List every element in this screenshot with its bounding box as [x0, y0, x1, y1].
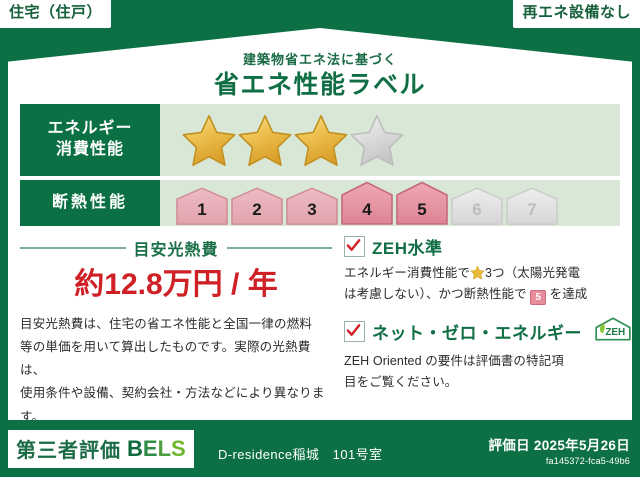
insulation-performance-label: 断熱性能	[20, 180, 160, 226]
bels-energy-label: 住宅（住戸） 再エネ設備なし 建築物省エネ法に基づく 省エネ性能ラベル エネルギ…	[0, 0, 640, 477]
cost-note-line2: 等の単価を用いて算出したものです。実際の光熱費は、	[20, 336, 332, 382]
energy-performance-label: エネルギー 消費性能	[20, 104, 160, 176]
zeh-body-mid: 3つ（太陽光発電	[485, 266, 580, 280]
net-zero-body: ZEH Oriented の要件は評価書の特記項 目をご覧ください。	[344, 351, 640, 394]
insulation-level-1: 1	[176, 187, 228, 225]
bels-letter-l: L	[158, 436, 171, 461]
insulation-performance-value: 1234567	[160, 180, 620, 226]
insulation-level-number: 3	[307, 201, 316, 225]
zeh-level-head: ZEH水準	[344, 234, 640, 259]
checkbox-checked-icon	[344, 236, 365, 257]
cost-note-line1: 目安光熱費は、住宅の省エネ性能と全国一律の燃料	[20, 313, 332, 336]
insulation-level-3: 3	[286, 187, 338, 225]
insulation-level-number: 1	[197, 201, 206, 225]
bels-logo: 第三者評価 BELS	[8, 430, 194, 468]
insulation-level-number: 4	[362, 201, 371, 225]
insulation-level-number: 5	[417, 201, 426, 225]
insulation-level-6: 6	[451, 187, 503, 225]
evaluation-date: 評価日 2025年5月26日	[488, 434, 630, 454]
evaluation-info: 評価日 2025年5月26日 fa145372-fca5-49b6	[488, 434, 630, 466]
main-card: エネルギー 消費性能 断熱性能 1234567	[8, 100, 632, 420]
roof-text-block: 建築物省エネ法に基づく 省エネ性能ラベル	[8, 52, 632, 99]
cost-note: 目安光熱費は、住宅の省エネ性能と全国一律の燃料 等の単価を用いて算出したものです…	[20, 313, 332, 429]
bels-jp-text: 第三者評価	[16, 434, 121, 463]
checkbox-checked-icon-2	[344, 321, 365, 342]
insulation-level-7: 7	[506, 187, 558, 225]
cost-heading-rule-right	[227, 247, 333, 249]
property-name: D-residence稲城 101号室	[218, 444, 382, 463]
label-title: 省エネ性能ラベル	[8, 71, 632, 100]
star-rating	[182, 113, 404, 167]
cost-column: 目安光熱費 約12.8万円 / 年 目安光熱費は、住宅の省エネ性能と全国一律の燃…	[20, 232, 338, 429]
svg-text:ZEH: ZEH	[605, 327, 625, 338]
bels-letter-e: E	[143, 436, 158, 461]
zeh-level-title: ZEH水準	[372, 234, 443, 259]
bels-wordmark: BELS	[127, 436, 186, 462]
net-zero-head: ネット・ゼロ・エネルギー ZEH ZEH Oriented	[344, 316, 640, 347]
bels-letter-s: S	[171, 436, 186, 461]
insulation-level-5: 5	[396, 181, 448, 225]
insulation-level-number: 2	[252, 201, 261, 225]
cost-heading-rule-left	[20, 247, 126, 249]
footer-bar: 第三者評価 BELS D-residence稲城 101号室 評価日 2025年…	[0, 420, 640, 477]
bels-letter-b: B	[127, 436, 143, 461]
inline-level-badge: 5	[530, 290, 546, 305]
lower-section: 目安光熱費 約12.8万円 / 年 目安光熱費は、住宅の省エネ性能と全国一律の燃…	[20, 232, 620, 429]
star-filled-icon	[294, 113, 348, 167]
star-empty-icon	[350, 113, 404, 167]
net-zero-body-line1: ZEH Oriented の要件は評価書の特記項	[344, 351, 640, 372]
label-subtitle: 建築物省エネ法に基づく	[8, 52, 632, 68]
roof-shape: 建築物省エネ法に基づく 省エネ性能ラベル	[8, 28, 632, 108]
energy-performance-value	[160, 104, 620, 176]
energy-label-line2: 消費性能	[56, 141, 124, 158]
zeh-body-mid2: は考慮しない）、かつ断熱性能で	[344, 287, 527, 301]
zeh-level-body: エネルギー消費性能で3つ（太陽光発電は考慮しない）、かつ断熱性能で 5 を達成	[344, 263, 640, 306]
insulation-level-number: 7	[527, 201, 536, 225]
star-filled-icon	[182, 113, 236, 167]
zeh-body-pre: エネルギー消費性能で	[344, 266, 470, 280]
checks-column: ZEH水準 エネルギー消費性能で3つ（太陽光発電は考慮しない）、かつ断熱性能で …	[338, 232, 640, 429]
renewable-energy-tag: 再エネ設備なし	[513, 0, 640, 28]
star-filled-icon	[238, 113, 292, 167]
cost-amount: 約12.8万円 / 年	[20, 268, 332, 301]
certificate-id: fa145372-fca5-49b6	[488, 456, 630, 466]
insulation-level-4: 4	[341, 181, 393, 225]
inline-star-icon	[470, 265, 485, 280]
check-item-net-zero: ネット・ゼロ・エネルギー ZEH ZEH Oriented	[344, 316, 640, 394]
insulation-level-number: 6	[472, 201, 481, 225]
net-zero-title: ネット・ゼロ・エネルギー	[372, 319, 582, 344]
energy-label-line1: エネルギー	[47, 120, 132, 137]
check-item-zeh-level: ZEH水準 エネルギー消費性能で3つ（太陽光発電は考慮しない）、かつ断熱性能で …	[344, 234, 640, 306]
energy-performance-row: エネルギー 消費性能	[20, 104, 620, 176]
cost-heading-text: 目安光熱費	[134, 236, 219, 260]
net-zero-body-line2: 目をご覧ください。	[344, 372, 640, 393]
zeh-body-post: を達成	[550, 287, 588, 301]
building-type-tag: 住宅（住戸）	[0, 0, 111, 28]
zeh-house-logo-icon: ZEH	[591, 316, 635, 347]
insulation-level-2: 2	[231, 187, 283, 225]
cost-heading: 目安光熱費	[20, 236, 332, 260]
insulation-performance-row: 断熱性能 1234567	[20, 180, 620, 226]
insulation-level-scale: 1234567	[176, 181, 558, 225]
